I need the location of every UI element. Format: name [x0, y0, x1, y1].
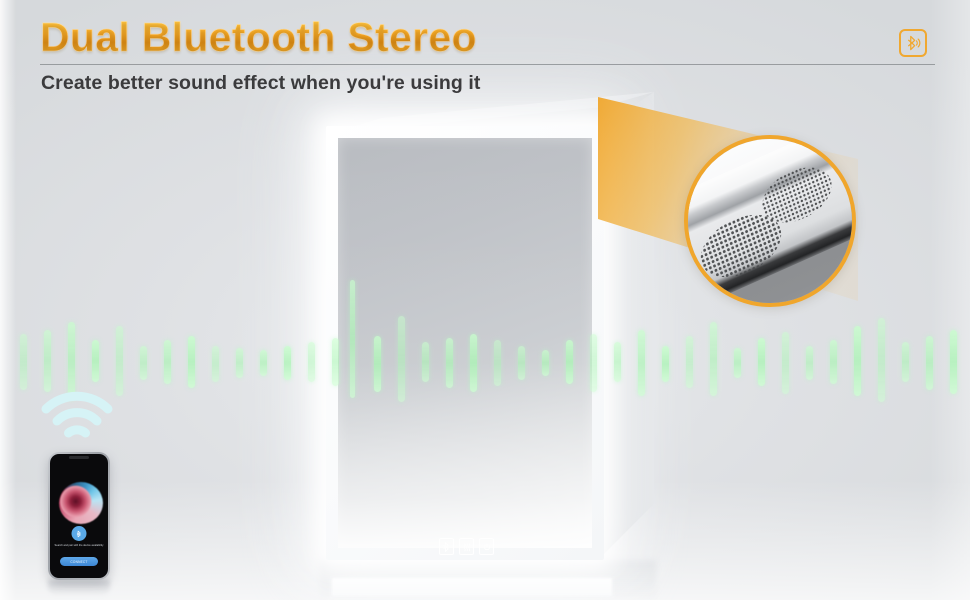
phone-floor-reflection	[48, 580, 110, 596]
waveform-bar	[92, 340, 99, 382]
phone-caption: Search and pair with the device availabi…	[54, 544, 104, 548]
product-marketing-banner: Dual Bluetooth Stereo Create better soun…	[0, 0, 970, 600]
speaker-detail-magnifier	[684, 135, 856, 307]
waveform-bar	[758, 338, 765, 386]
phone-device[interactable]: Search and pair with the device availabi…	[48, 452, 110, 580]
waveform-bar	[686, 336, 693, 388]
phone-connect-button[interactable]: CONNECT	[60, 557, 98, 566]
waveform-bar	[902, 342, 909, 382]
glass-sheen	[338, 138, 592, 548]
bluetooth-connected-icon	[72, 526, 87, 541]
page-subtitle: Create better sound effect when you're u…	[41, 72, 481, 95]
defogger-icon	[463, 542, 471, 552]
waveform-bar	[308, 342, 315, 382]
waveform-bar	[260, 350, 267, 376]
mirror-led-frame	[326, 126, 604, 560]
waveform-bar	[68, 322, 75, 400]
waveform-bar	[710, 322, 717, 396]
waveform-bar	[20, 334, 27, 390]
cabinet-side-panel	[598, 92, 654, 560]
waveform-bar	[212, 346, 219, 382]
waveform-bar	[236, 348, 243, 378]
bluetooth-touch-button[interactable]	[439, 538, 454, 555]
defogger-touch-button[interactable]	[459, 538, 474, 555]
bluetooth-audio-badge	[899, 29, 927, 57]
waveform-bar	[140, 346, 147, 380]
speaker-closeup-photo	[684, 135, 856, 307]
waveform-bar	[662, 346, 669, 382]
smartphone-bluetooth-pairing: Search and pair with the device availabi…	[28, 390, 148, 600]
bluetooth-audio-icon	[904, 34, 922, 52]
mirror-glass-surface	[338, 138, 592, 548]
waveform-bar	[188, 336, 195, 388]
waveform-bar	[830, 340, 837, 384]
power-icon	[483, 543, 491, 551]
waveform-bar	[44, 330, 51, 392]
waveform-bar	[116, 326, 123, 396]
flower-photo	[59, 482, 103, 524]
mirror-cabinet	[320, 92, 650, 572]
waveform-bar	[782, 332, 789, 394]
header-divider	[40, 64, 935, 65]
mirror-touch-control-panel	[439, 538, 494, 555]
wifi-waves-icon	[40, 390, 114, 446]
waveform-bar	[806, 346, 813, 380]
waveform-bar	[164, 340, 171, 384]
phone-screen[interactable]: Search and pair with the device availabi…	[50, 454, 108, 578]
waveform-bar	[878, 318, 885, 402]
waveform-bar	[284, 346, 291, 380]
bluetooth-icon	[443, 542, 450, 552]
led-bottom-bar	[332, 578, 612, 596]
page-title: Dual Bluetooth Stereo	[40, 17, 477, 58]
header: Dual Bluetooth Stereo Create better soun…	[0, 0, 970, 110]
waveform-bar	[734, 348, 741, 378]
phone-notch	[69, 456, 89, 459]
power-touch-button[interactable]	[479, 538, 494, 555]
waveform-bar	[854, 326, 861, 396]
